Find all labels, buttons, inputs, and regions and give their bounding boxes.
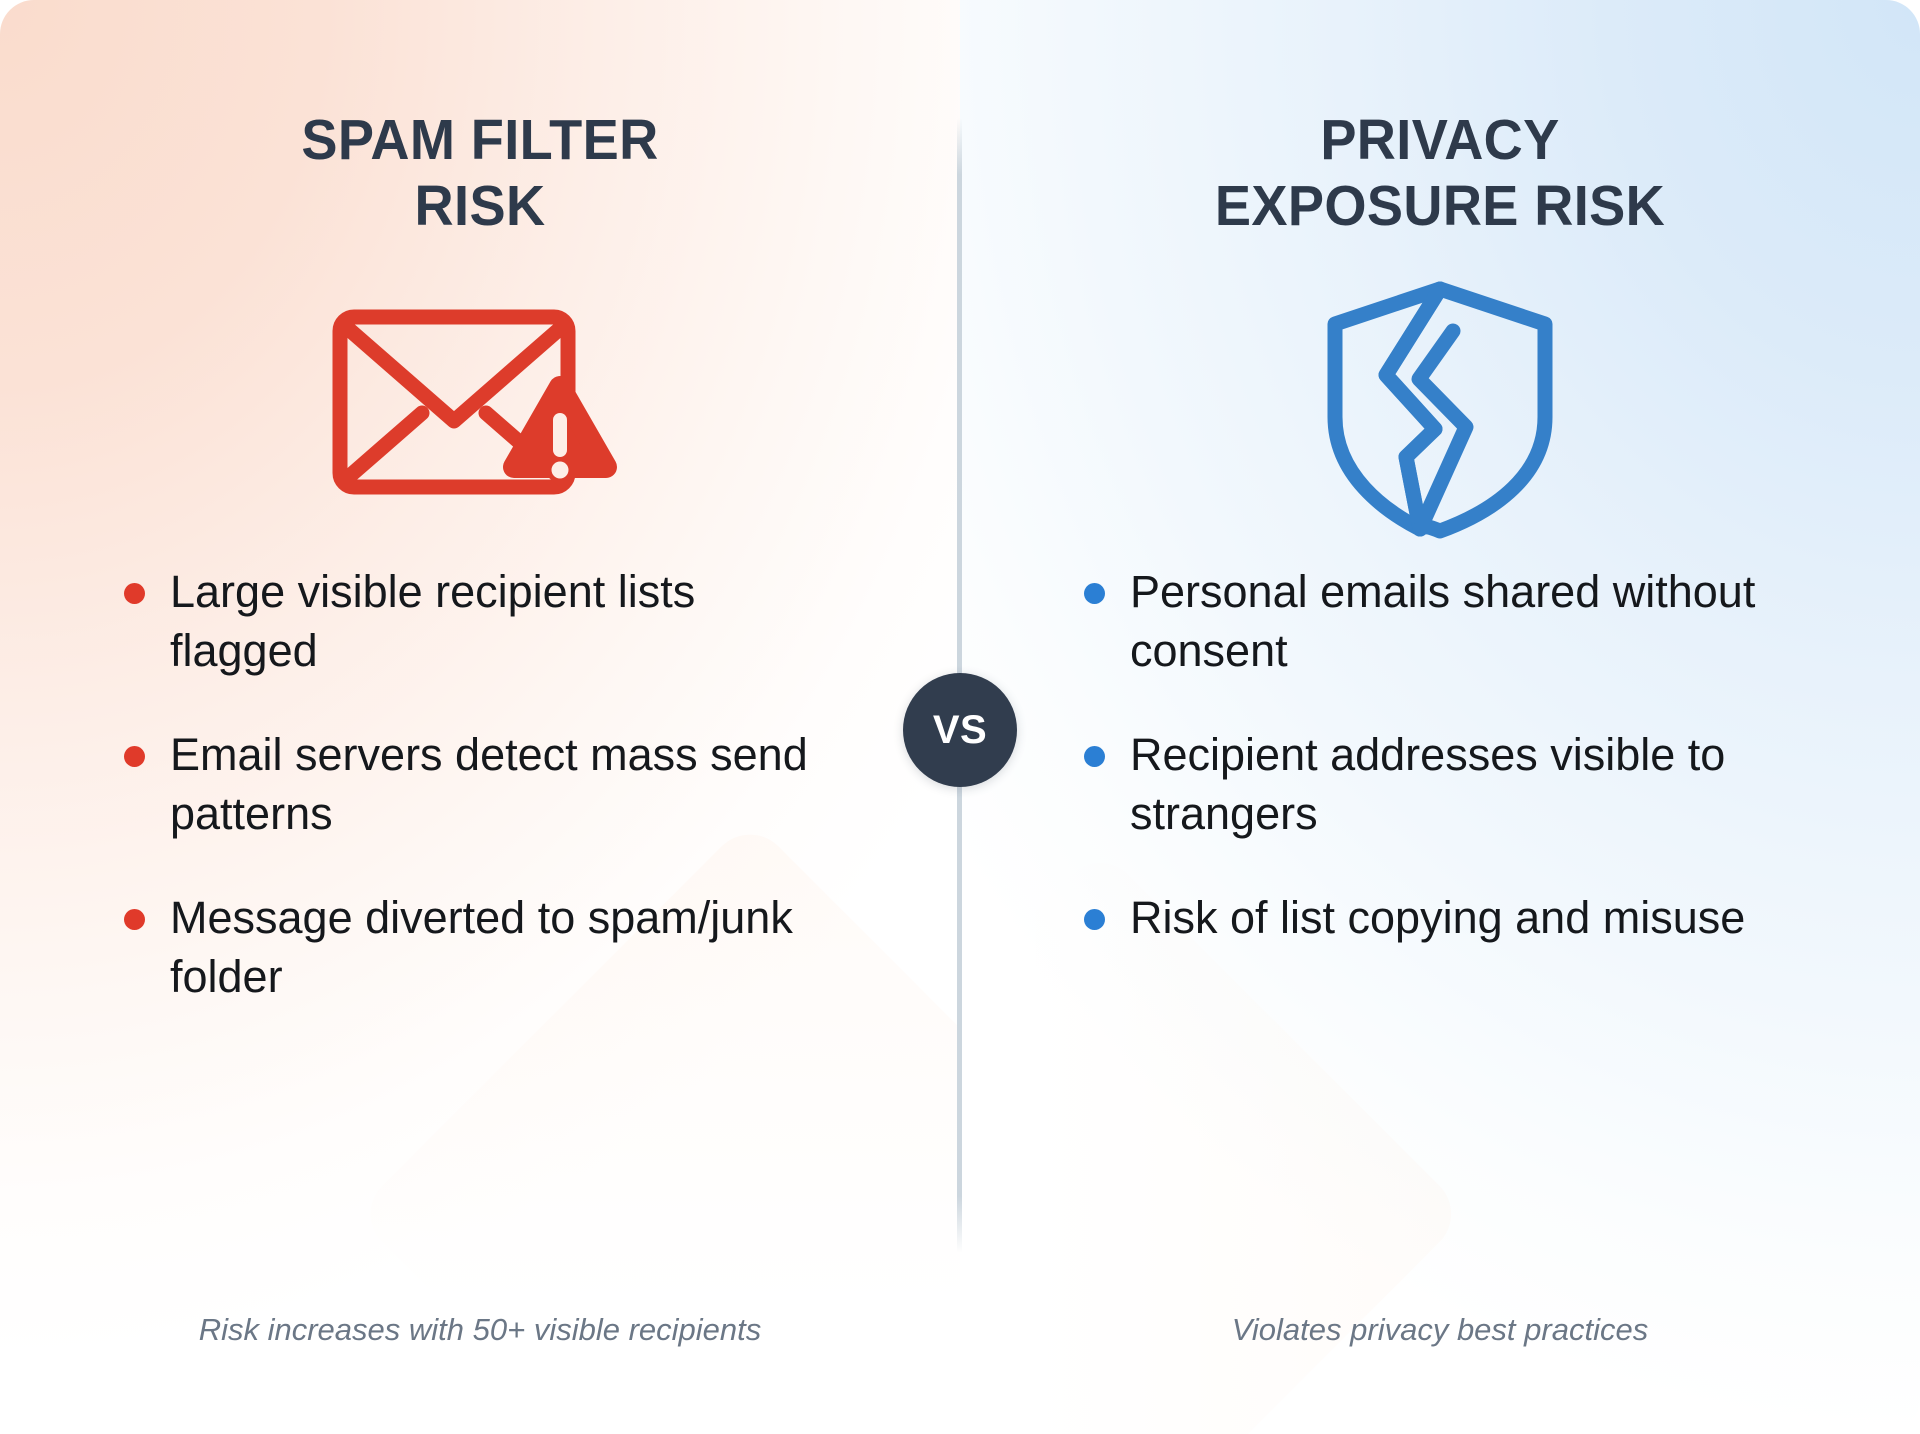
comparison-infographic: VS SPAM FILTER RISK bbox=[0, 0, 1920, 1434]
vs-badge: VS bbox=[903, 673, 1017, 787]
list-item: Personal emails shared without consent bbox=[1078, 563, 1802, 680]
vs-badge-label: VS bbox=[933, 708, 987, 753]
privacy-exposure-risk-title-line1: PRIVACY bbox=[1320, 108, 1559, 172]
broken-shield-icon bbox=[1323, 279, 1557, 541]
privacy-exposure-risk-title-line2: EXPOSURE RISK bbox=[1215, 174, 1665, 238]
list-item: Large visible recipient lists flagged bbox=[118, 563, 842, 680]
privacy-exposure-risk-bullet-list: Personal emails shared without consent R… bbox=[1078, 563, 1802, 948]
list-item: Email servers detect mass send patterns bbox=[118, 726, 842, 843]
privacy-exposure-risk-column: PRIVACY EXPOSURE RISK Personal emails s bbox=[960, 0, 1920, 1434]
spam-filter-risk-title-line2: RISK bbox=[415, 174, 546, 238]
privacy-exposure-risk-title: PRIVACY EXPOSURE RISK bbox=[1096, 108, 1784, 239]
spam-filter-risk-title: SPAM FILTER RISK bbox=[136, 108, 824, 239]
list-item: Risk of list copying and misuse bbox=[1078, 889, 1802, 948]
spam-filter-risk-column: SPAM FILTER RISK Large visible rec bbox=[0, 0, 960, 1434]
privacy-exposure-risk-footnote: Violates privacy best practices bbox=[960, 1312, 1920, 1348]
spam-filter-risk-bullet-list: Large visible recipient lists flagged Em… bbox=[118, 563, 842, 1006]
spam-filter-risk-icon-wrap bbox=[118, 281, 842, 539]
list-item: Recipient addresses visible to strangers bbox=[1078, 726, 1802, 843]
spam-filter-risk-title-line1: SPAM FILTER bbox=[301, 108, 658, 172]
envelope-warning-icon bbox=[330, 295, 630, 525]
spam-filter-risk-footnote: Risk increases with 50+ visible recipien… bbox=[0, 1312, 960, 1348]
warning-exclamation-glyph bbox=[552, 413, 569, 479]
list-item: Message diverted to spam/junk folder bbox=[118, 889, 842, 1006]
privacy-exposure-risk-icon-wrap bbox=[1078, 281, 1802, 539]
